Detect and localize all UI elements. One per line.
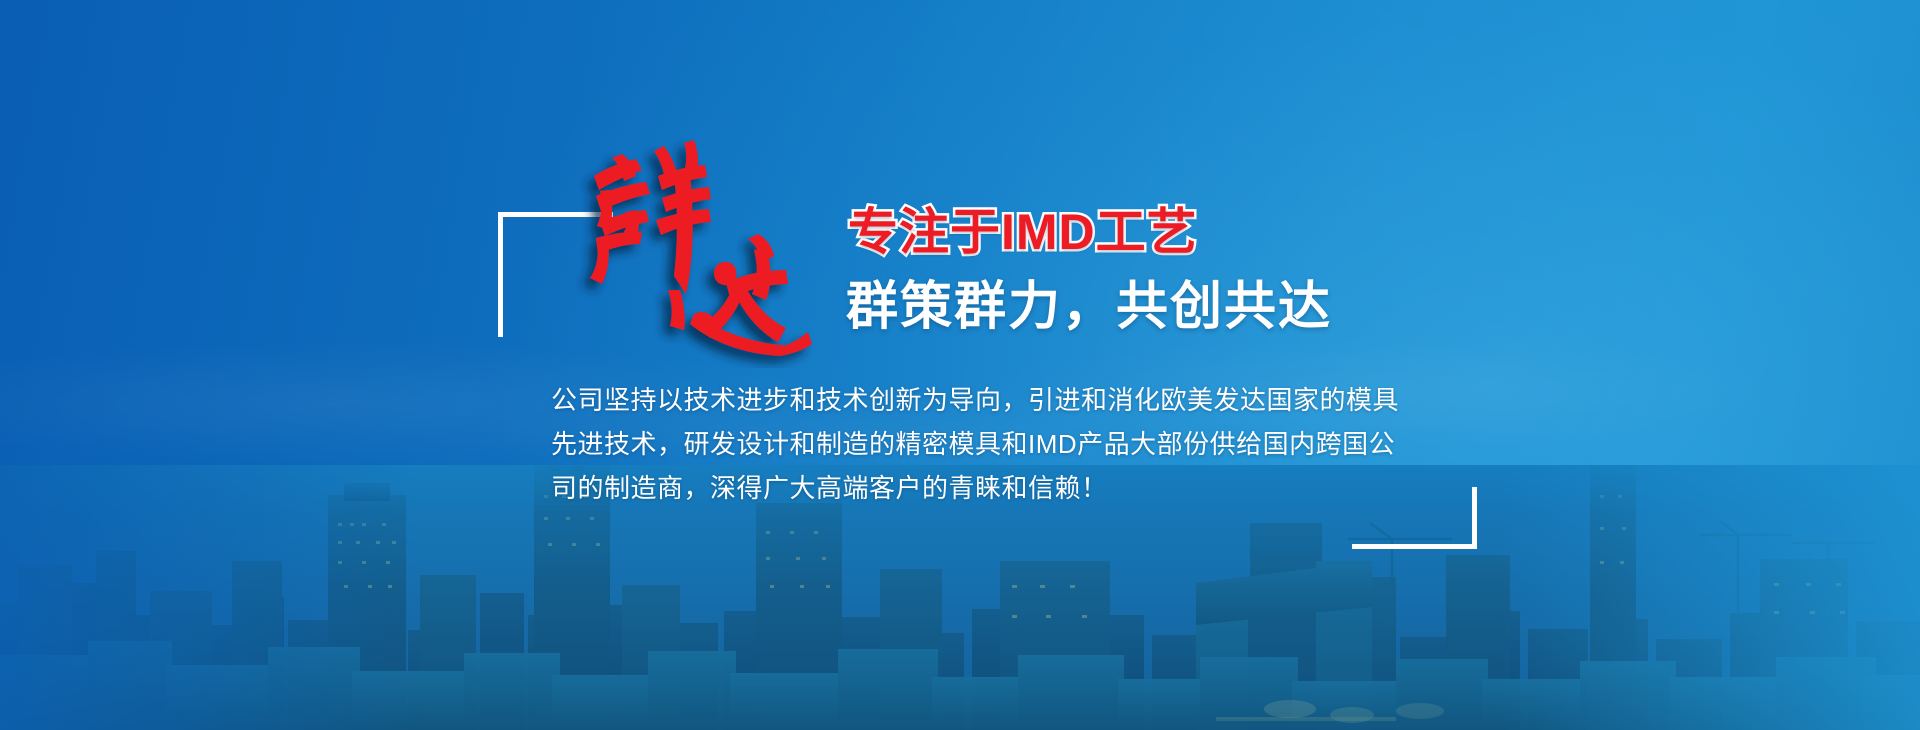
banner-description: 公司坚持以技术进步和技术创新为导向，引进和消化欧美发达国家的模具 先进技术，研发… xyxy=(551,378,1421,510)
corner-bracket-top-left-icon xyxy=(498,212,613,337)
banner-headline: 专注于IMD工艺 xyxy=(848,207,1198,257)
banner-subheadline: 群策群力，共创共达 xyxy=(846,281,1332,333)
description-line-2: 先进技术，研发设计和制造的精密模具和IMD产品大部份供给国内跨国公 xyxy=(551,422,1421,466)
description-line-3: 司的制造商，深得广大高端客户的青睐和信赖！ xyxy=(551,466,1421,510)
hero-banner: 专注于IMD工艺 群策群力，共创共达 公司坚持以技术进步和技术创新为导向，引进和… xyxy=(0,0,1920,730)
description-line-1: 公司坚持以技术进步和技术创新为导向，引进和消化欧美发达国家的模具 xyxy=(551,378,1421,422)
